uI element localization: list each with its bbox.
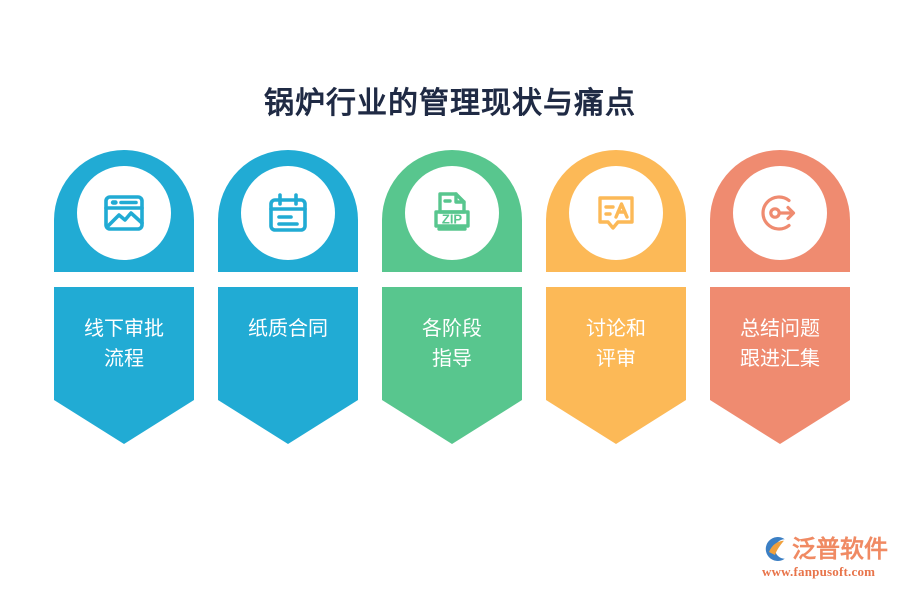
brand-logo-name: 泛普软件 [792,534,888,564]
brand-logo[interactable]: 泛普软件 www.fanpusoft.com [760,532,886,586]
image-window-icon [97,186,151,240]
card-banner: 各阶段 指导 [382,287,522,444]
card-head [218,150,358,272]
svg-text:ZIP: ZIP [442,212,463,227]
infographic-card-1[interactable]: 线下审批 流程 [54,150,194,444]
infographic-card-4[interactable]: 讨论和 评审 [546,150,686,444]
card-label: 各阶段 指导 [382,313,522,373]
infographic-card-3[interactable]: ZIP 各阶段 指导 [382,150,522,444]
zip-file-icon: ZIP [425,186,479,240]
brand-logo-url: www.fanpusoft.com [762,564,875,580]
card-head [54,150,194,272]
card-head [710,150,850,272]
infographic-card-5[interactable]: 总结问题 跟进汇集 [710,150,850,444]
card-banner: 总结问题 跟进汇集 [710,287,850,444]
infographic-card-2[interactable]: 纸质合同 [218,150,358,444]
card-label: 讨论和 评审 [546,313,686,373]
slide-canvas: 锅炉行业的管理现状与痛点 线下 [0,0,900,600]
card-label: 总结问题 跟进汇集 [710,313,850,373]
circular-arrow-exit-icon [753,186,807,240]
fanpu-logo-mark-icon [760,534,790,564]
icon-disc: ZIP [405,166,499,260]
translate-speech-bubble-icon [589,186,643,240]
infographic-cards-row: 线下审批 流程 [54,150,850,450]
card-head: ZIP [382,150,522,272]
card-banner: 线下审批 流程 [54,287,194,444]
brand-logo-top: 泛普软件 [760,532,888,566]
icon-disc [569,166,663,260]
card-banner: 纸质合同 [218,287,358,444]
card-head [546,150,686,272]
icon-disc [733,166,827,260]
card-banner: 讨论和 评审 [546,287,686,444]
card-label: 线下审批 流程 [54,313,194,373]
icon-disc [77,166,171,260]
card-label: 纸质合同 [218,313,358,343]
page-title: 锅炉行业的管理现状与痛点 [0,78,900,122]
icon-disc [241,166,335,260]
notepad-calendar-icon [261,186,315,240]
